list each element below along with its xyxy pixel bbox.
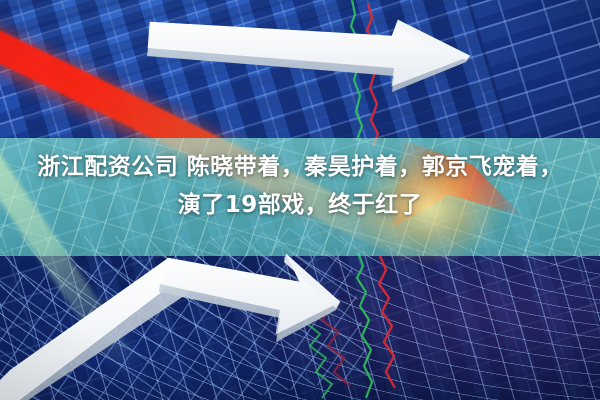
headline-line-1: 浙江配资公司 陈晓带着，秦昊护着，郭京飞宠着， (6, 148, 594, 186)
headline-line-2: 演了19部戏，终于红了 (6, 186, 594, 224)
image-canvas: 浙江配资公司 陈晓带着，秦昊护着，郭京飞宠着， 演了19部戏，终于红了 (0, 0, 600, 400)
headline-text: 浙江配资公司 陈晓带着，秦昊护着，郭京飞宠着， 演了19部戏，终于红了 (0, 148, 600, 224)
